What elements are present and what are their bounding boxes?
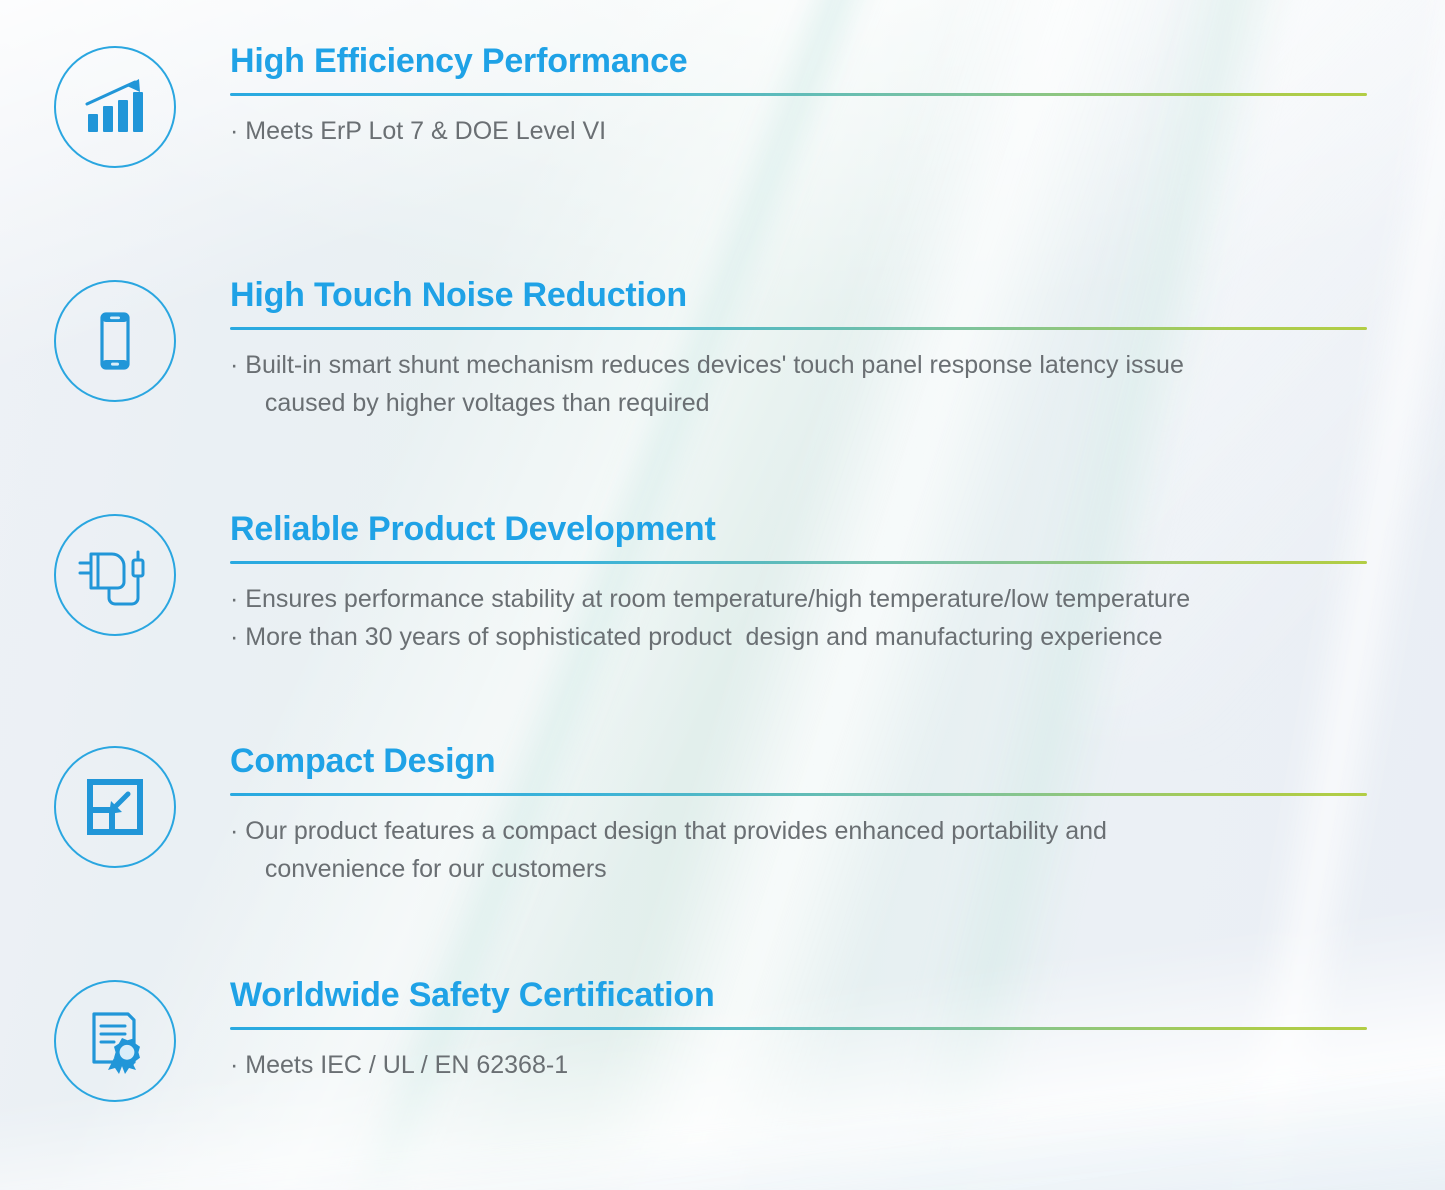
feature-icon-wrapper bbox=[0, 510, 230, 636]
feature-content: Compact Design · Our product features a … bbox=[230, 742, 1445, 888]
feature-content: High Touch Noise Reduction · Built-in sm… bbox=[230, 276, 1445, 422]
feature-divider bbox=[230, 561, 1367, 564]
feature-content: Reliable Product Development · Ensures p… bbox=[230, 510, 1445, 656]
feature-item-reliable-product-development: Reliable Product Development · Ensures p… bbox=[0, 510, 1445, 656]
feature-icon-wrapper bbox=[0, 42, 230, 168]
feature-divider bbox=[230, 793, 1367, 796]
feature-bullet: · Ensures performance stability at room … bbox=[230, 580, 1367, 618]
feature-item-high-touch-noise-reduction: High Touch Noise Reduction · Built-in sm… bbox=[0, 276, 1445, 422]
feature-divider bbox=[230, 1027, 1367, 1030]
feature-title: Worldwide Safety Certification bbox=[230, 976, 1367, 1015]
feature-bullets: · Ensures performance stability at room … bbox=[230, 580, 1367, 656]
feature-content: Worldwide Safety Certification · Meets I… bbox=[230, 976, 1445, 1084]
bar-chart-growth-icon bbox=[54, 46, 176, 168]
feature-content: High Efficiency Performance · Meets ErP … bbox=[230, 42, 1445, 150]
power-adapter-icon bbox=[54, 514, 176, 636]
certificate-award-icon bbox=[54, 980, 176, 1102]
feature-icon-wrapper bbox=[0, 276, 230, 402]
feature-bullets: · Meets IEC / UL / EN 62368-1 bbox=[230, 1046, 1367, 1084]
feature-title: High Efficiency Performance bbox=[230, 42, 1367, 81]
feature-title: Reliable Product Development bbox=[230, 510, 1367, 549]
feature-icon-wrapper bbox=[0, 976, 230, 1102]
feature-bullet: · Built-in smart shunt mechanism reduces… bbox=[230, 346, 1367, 422]
feature-title: High Touch Noise Reduction bbox=[230, 276, 1367, 315]
feature-bullet: · More than 30 years of sophisticated pr… bbox=[230, 618, 1367, 656]
feature-list-page: High Efficiency Performance · Meets ErP … bbox=[0, 0, 1445, 1190]
feature-item-worldwide-safety-certification: Worldwide Safety Certification · Meets I… bbox=[0, 976, 1445, 1102]
feature-item-high-efficiency-performance: High Efficiency Performance · Meets ErP … bbox=[0, 42, 1445, 168]
smartphone-icon bbox=[54, 280, 176, 402]
feature-bullet: · Meets IEC / UL / EN 62368-1 bbox=[230, 1046, 1367, 1084]
feature-divider bbox=[230, 327, 1367, 330]
feature-divider bbox=[230, 93, 1367, 96]
feature-bullets: · Our product features a compact design … bbox=[230, 812, 1367, 888]
feature-title: Compact Design bbox=[230, 742, 1367, 781]
compact-resize-icon bbox=[54, 746, 176, 868]
feature-item-compact-design: Compact Design · Our product features a … bbox=[0, 742, 1445, 888]
feature-bullet: · Meets ErP Lot 7 & DOE Level VI bbox=[230, 112, 1367, 150]
feature-bullets: · Built-in smart shunt mechanism reduces… bbox=[230, 346, 1367, 422]
feature-icon-wrapper bbox=[0, 742, 230, 868]
feature-bullets: · Meets ErP Lot 7 & DOE Level VI bbox=[230, 112, 1367, 150]
feature-bullet: · Our product features a compact design … bbox=[230, 812, 1367, 888]
